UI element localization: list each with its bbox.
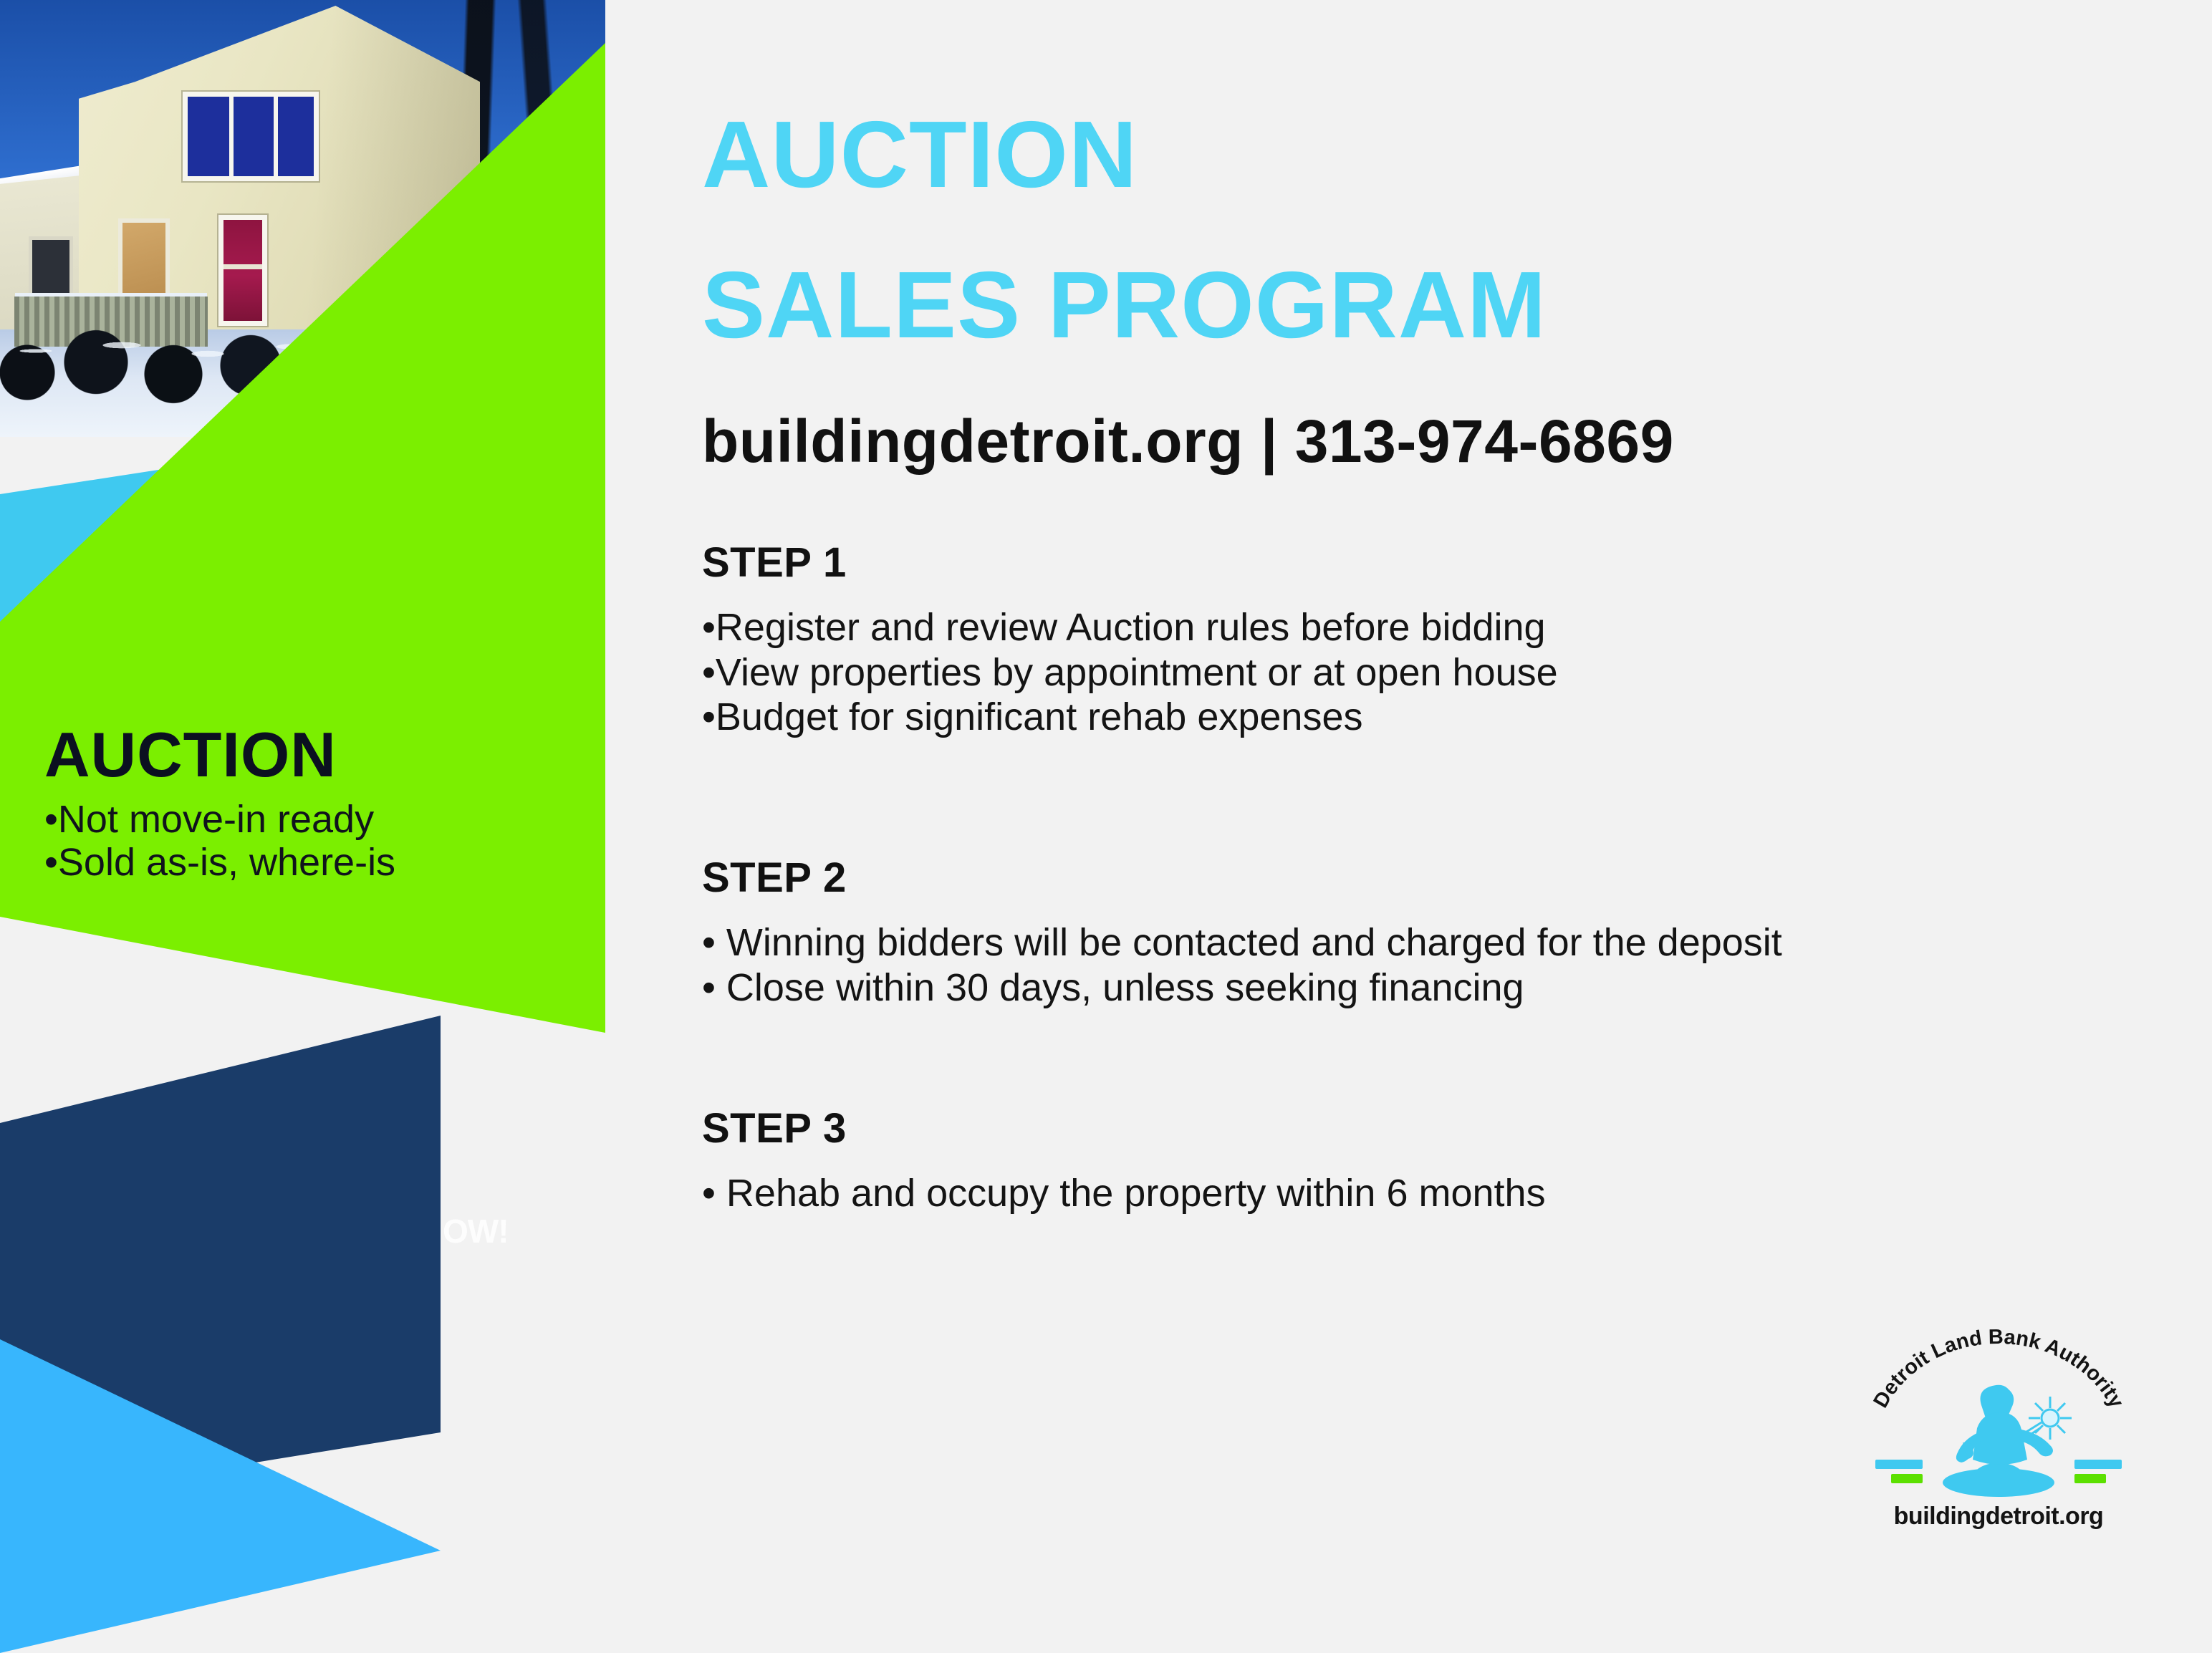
step-bullet-item: •Register and review Auction rules befor… — [702, 605, 2135, 650]
headline-sales-program: SALES PROGRAM — [702, 258, 1547, 352]
contact-line[interactable]: buildingdetroit.org | 313-974-6869 — [702, 407, 1674, 476]
headline-auction: AUCTION — [702, 107, 1138, 202]
step-bullet-item: • Close within 30 days, unless seeking f… — [702, 965, 2135, 1011]
green-bullet-item: •Not move-in ready — [44, 798, 589, 841]
detroit-land-bank-logo[interactable]: Detroit Land Bank Authority — [1848, 1325, 2149, 1561]
step-bullet-item: • Winning bidders will be contacted and … — [702, 920, 2135, 965]
step-3-bullets: • Rehab and occupy the property within 6… — [702, 1171, 2135, 1216]
step-bullet-item: •Budget for significant rehab expenses — [702, 695, 2135, 740]
logo-url-label[interactable]: buildingdetroit.org — [1848, 1503, 2149, 1531]
photo-upper-window — [183, 92, 319, 181]
step-2-block: STEP 2 • Winning bidders will be contact… — [702, 854, 2135, 1010]
step-1-block: STEP 1 •Register and review Auction rule… — [702, 539, 2135, 740]
logo-bar-left-cyan — [1875, 1460, 1923, 1469]
left-graphic-column: AUCTION •Not move-in ready •Sold as-is, … — [0, 0, 645, 1653]
logo-bar-right-cyan — [2074, 1460, 2122, 1469]
green-panel-copy: AUCTION •Not move-in ready •Sold as-is, … — [44, 723, 589, 885]
content-column: AUCTION SALES PROGRAM buildingdetroit.or… — [702, 0, 2212, 1653]
cut-off-now-text: OW! — [443, 1212, 509, 1250]
step-2-title: STEP 2 — [702, 854, 2135, 902]
step-bullet-item: •View properties by appointment or at op… — [702, 650, 2135, 695]
auction-flyer: AUCTION •Not move-in ready •Sold as-is, … — [0, 0, 2212, 1653]
green-bullet-item: •Sold as-is, where-is — [44, 841, 589, 884]
step-3-title: STEP 3 — [702, 1104, 2135, 1152]
photo-red-door — [218, 215, 267, 326]
green-panel-title: AUCTION — [44, 723, 589, 786]
step-3-block: STEP 3 • Rehab and occupy the property w… — [702, 1104, 2135, 1216]
logo-accent-bars — [1848, 1460, 2149, 1488]
step-1-bullets: •Register and review Auction rules befor… — [702, 605, 2135, 740]
step-2-bullets: • Winning bidders will be contacted and … — [702, 920, 2135, 1010]
logo-bar-right-green — [2074, 1474, 2106, 1483]
step-1-title: STEP 1 — [702, 539, 2135, 587]
green-panel-bullets: •Not move-in ready •Sold as-is, where-is — [44, 798, 589, 885]
step-bullet-item: • Rehab and occupy the property within 6… — [702, 1171, 2135, 1216]
logo-bar-left-green — [1891, 1474, 1923, 1483]
